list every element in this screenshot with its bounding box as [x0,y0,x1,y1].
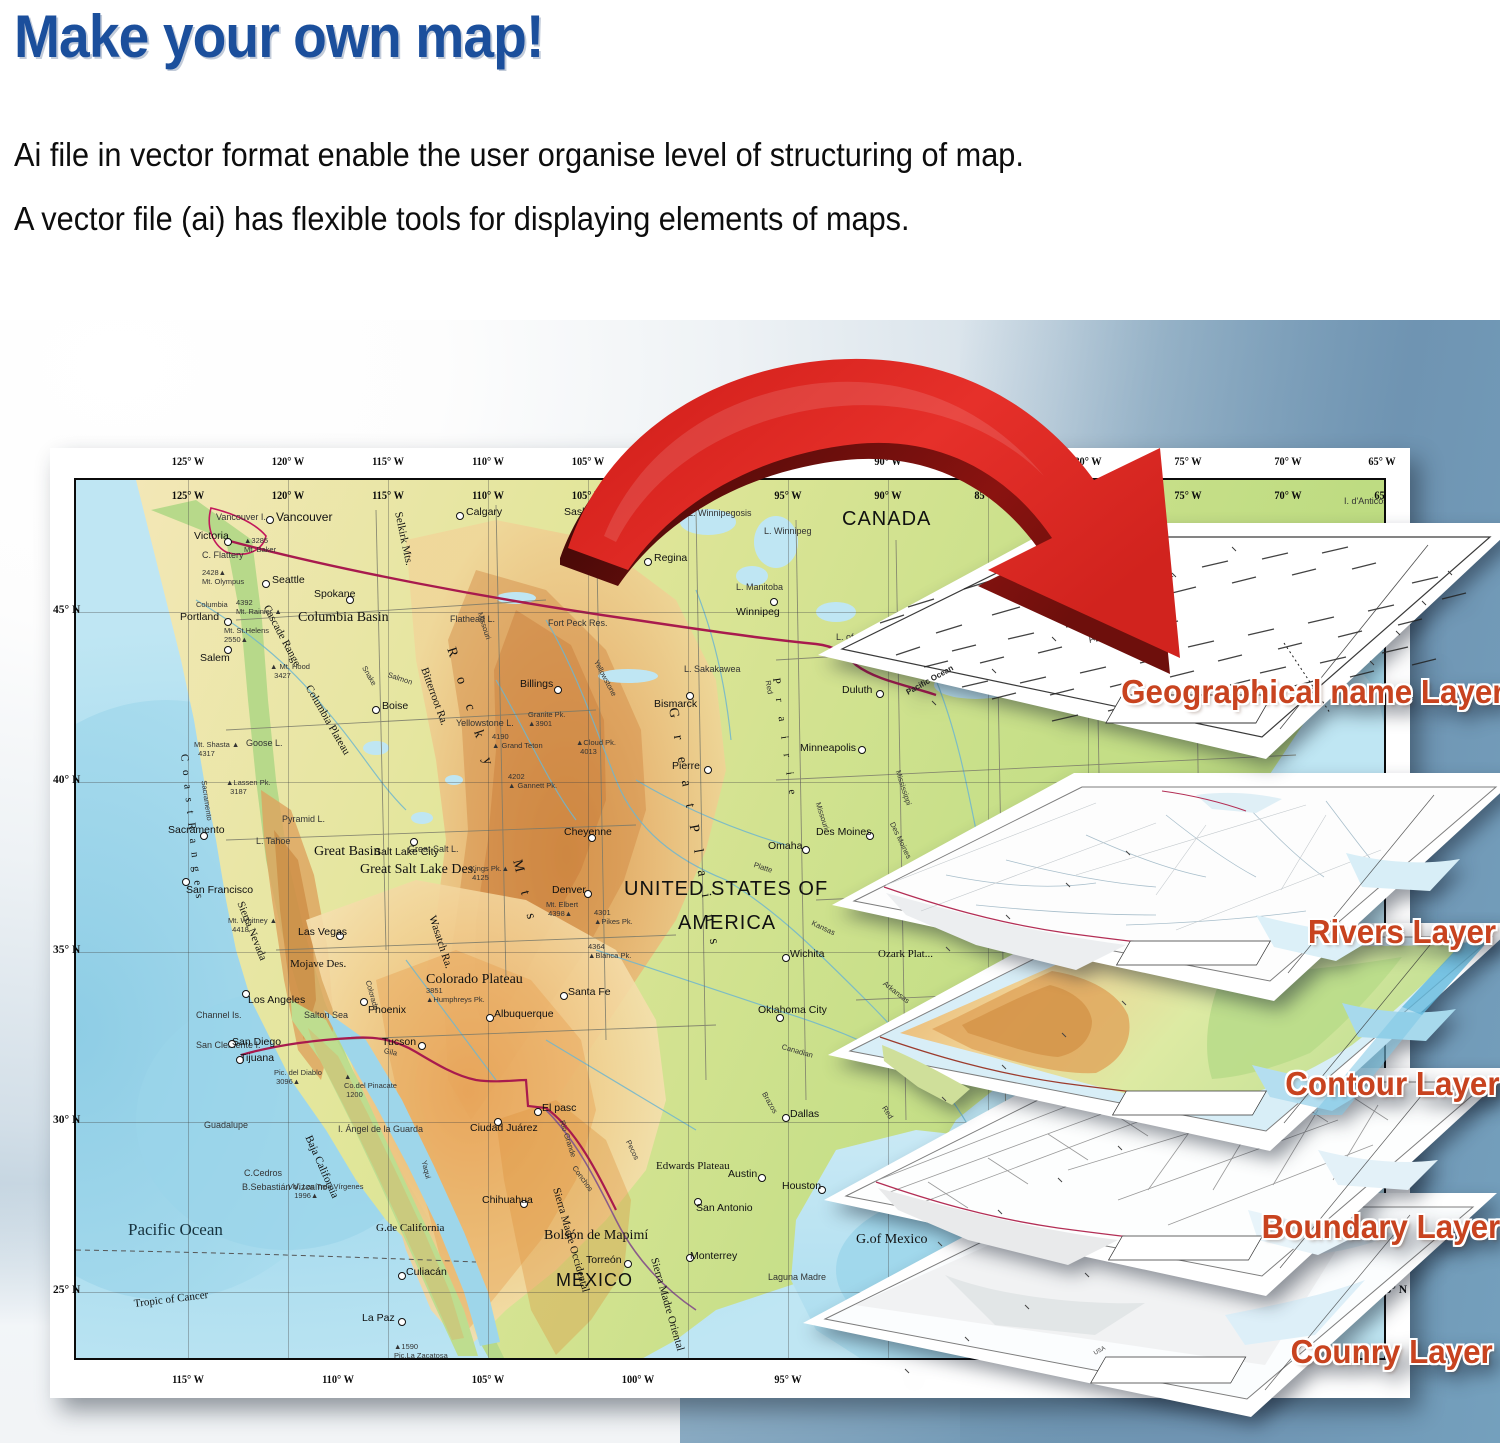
header-subtitle-line-1: Ai file in vector format enable the user… [14,136,1024,174]
page-title: Make your own map! [14,2,543,71]
layer-label-boundary: Boundary Layer [1261,1208,1500,1246]
layer-label-country: Counry Layer [1291,1333,1493,1371]
layer-sheet-geographical-name[interactable]: UNITED STATES OF AMERICA Pacific Ocean G… [812,515,1500,775]
layer-label-contour: Contour Layer [1286,1065,1500,1103]
header-subtitle-line-2: A vector file (ai) has flexible tools fo… [14,200,910,238]
layer-label-geographical-name: Geographical name Layer [1121,673,1500,711]
layer-label-rivers: Rivers Layer [1308,913,1496,951]
illustration-stage: CANADA UNITED STATES OF AMERICA MEXICO P… [0,320,1500,1443]
page-header: Make your own map! Ai file in vector for… [0,0,1500,320]
map-longitude-ruler-top-outer: 125° W 120° W 115° W 110° W 105° W 100° … [76,456,1384,476]
layer-sheet-rivers[interactable]: Rivers Layer [826,765,1500,1015]
map-latitude-ruler-left: 45° N 40° N 35° N 30° N 25° N [50,478,74,1360]
